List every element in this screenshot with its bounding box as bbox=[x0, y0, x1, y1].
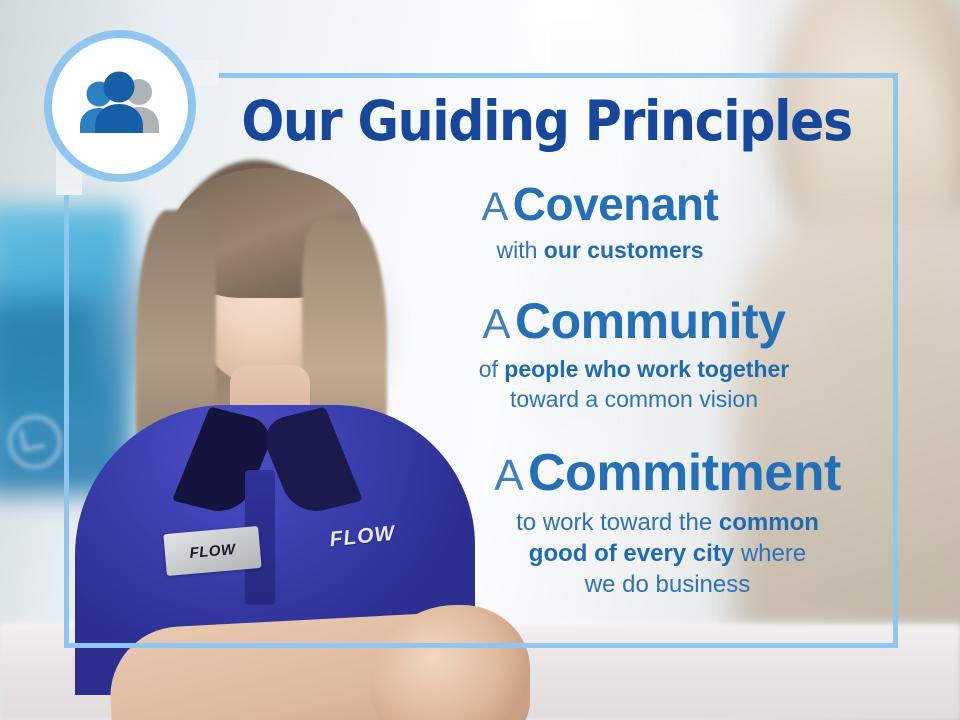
principle-commitment: A Commitment to work toward the commongo… bbox=[455, 446, 880, 600]
principle-article: A bbox=[494, 451, 523, 500]
principle-keyword: Community bbox=[515, 293, 786, 349]
people-badge bbox=[44, 30, 196, 182]
principle-heading: A Covenant bbox=[320, 180, 880, 229]
principle-community: A Community of people who work togethert… bbox=[388, 295, 880, 414]
principle-covenant: A Covenant with our customers bbox=[320, 180, 880, 265]
principle-heading: A Commitment bbox=[455, 446, 880, 501]
guiding-principles-poster: FLOW FLOW Our Guiding Princ bbox=[0, 0, 960, 720]
principle-article: A bbox=[483, 300, 511, 347]
principle-heading: A Community bbox=[388, 295, 880, 348]
employee-name-badge: FLOW bbox=[163, 526, 261, 576]
principle-article: A bbox=[482, 185, 509, 229]
principle-subtext: of people who work togethertoward a comm… bbox=[388, 355, 880, 414]
principle-keyword: Commitment bbox=[528, 444, 841, 502]
people-group-icon bbox=[72, 71, 168, 141]
principle-keyword: Covenant bbox=[513, 178, 719, 230]
principle-subtext: with our customers bbox=[320, 236, 880, 265]
principle-subtext: to work toward the commongood of every c… bbox=[455, 508, 880, 600]
name-badge-brand-text: FLOW bbox=[189, 541, 236, 562]
page-title: Our Guiding Principles bbox=[241, 94, 848, 149]
principles-list: A Covenant with our customers A Communit… bbox=[300, 180, 880, 606]
